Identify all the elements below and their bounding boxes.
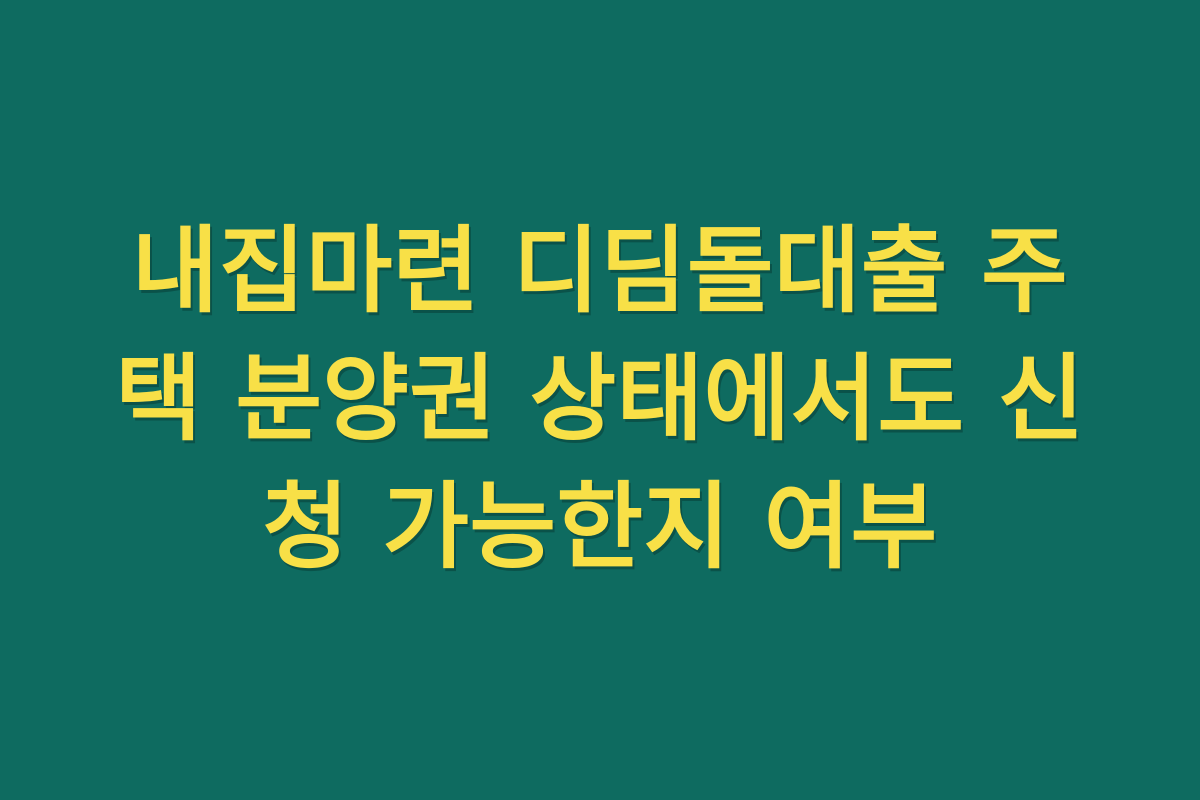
text-thumbnail-card: 내집마련 디딤돌대출 주 택 분양권 상태에서도 신 청 가능한지 여부: [0, 0, 1200, 800]
page-title: 내집마련 디딤돌대출 주 택 분양권 상태에서도 신 청 가능한지 여부: [70, 208, 1130, 591]
headline-line-1: 내집마련 디딤돌대출 주: [70, 208, 1130, 336]
headline-line-2: 택 분양권 상태에서도 신: [70, 336, 1130, 464]
headline-line-3: 청 가능한지 여부: [70, 464, 1130, 592]
